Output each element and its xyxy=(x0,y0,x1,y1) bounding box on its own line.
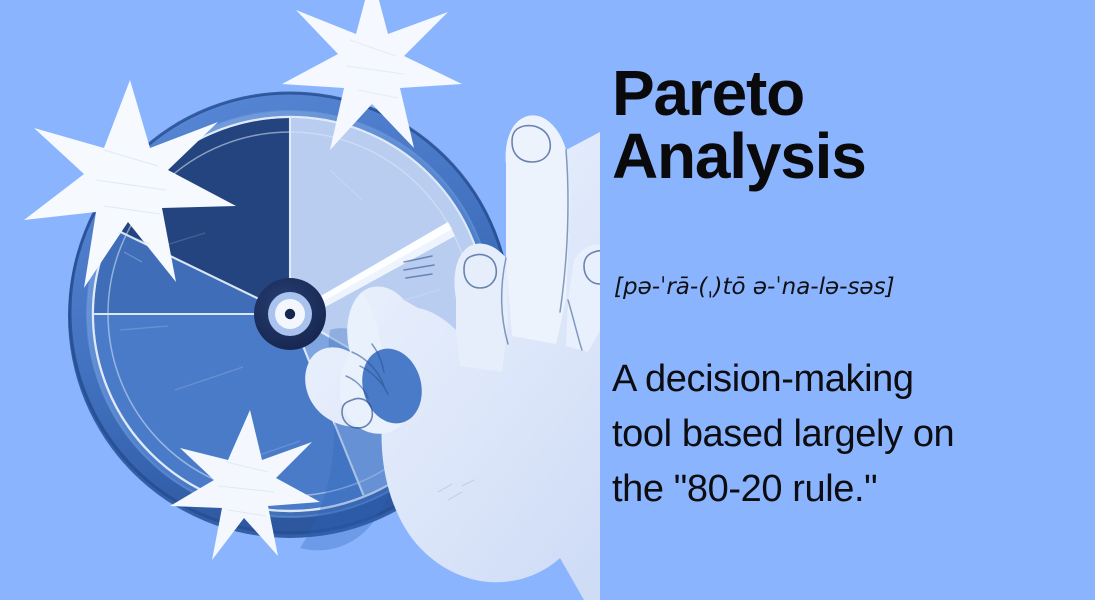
hand-middle-finger xyxy=(455,244,508,372)
illustration-pie-chart-dial xyxy=(0,0,600,600)
definition-line-1: A decision-making xyxy=(612,352,1032,407)
definition-text: A decision-making tool based largely on … xyxy=(612,352,1032,517)
term-line-2: Analysis xyxy=(612,125,1052,188)
word-of-the-day-card: Pareto Analysis [pə-ˈrā-(ˌ)tō ə-ˈna-lə-s… xyxy=(0,0,1095,600)
definition-line-3: the "80-20 rule." xyxy=(612,462,1032,517)
text-panel: Pareto Analysis [pə-ˈrā-(ˌ)tō ə-ˈna-lə-s… xyxy=(612,0,1082,600)
pronunciation-text: [pə-ˈrā-(ˌ)tō ə-ˈna-lə-səs] xyxy=(614,274,895,300)
dial-hub xyxy=(254,278,326,350)
page-title: Pareto Analysis xyxy=(612,62,1052,187)
definition-line-2: tool based largely on xyxy=(612,407,1032,462)
term-line-1: Pareto xyxy=(612,62,1052,125)
